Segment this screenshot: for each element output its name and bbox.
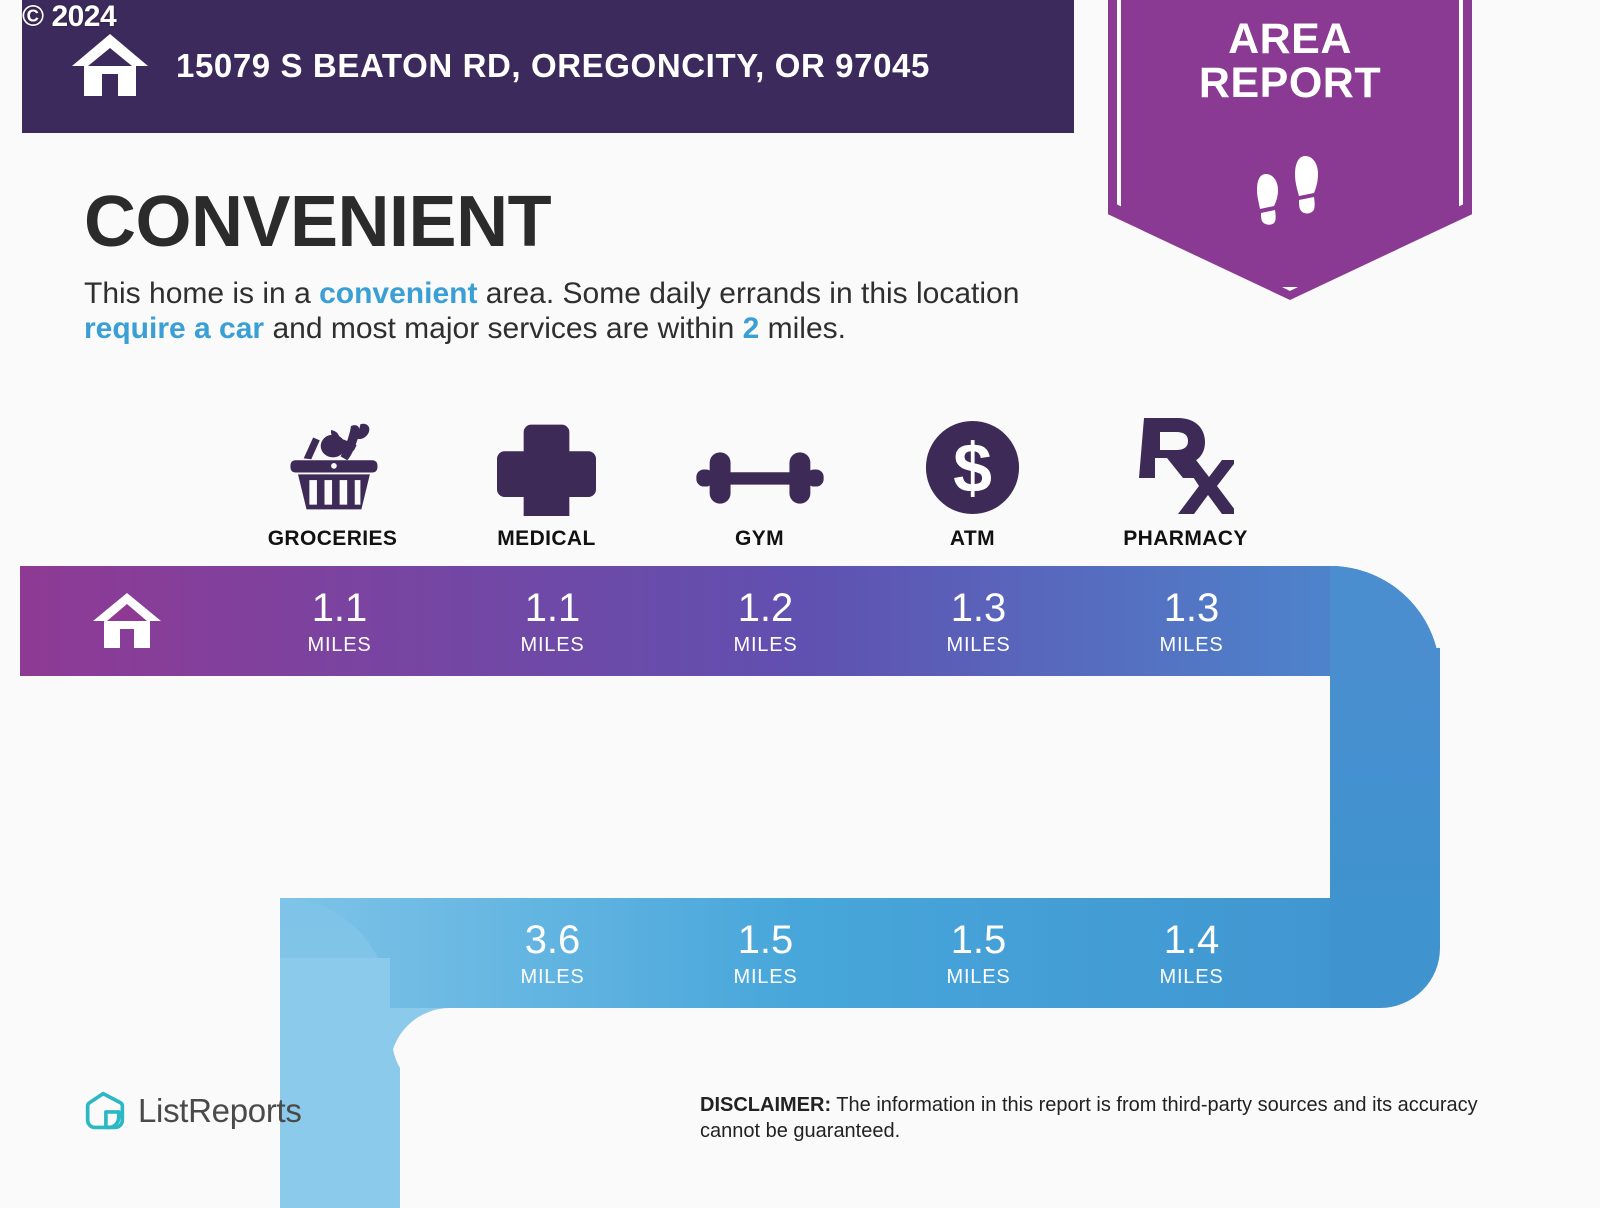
area-report-badge: AREA REPORT [1108, 0, 1472, 300]
home-icon [91, 591, 163, 651]
footprints-icon [1244, 138, 1336, 230]
summary-part-2: area. Some daily errands in this locatio… [477, 277, 1019, 310]
badge-line-2: REPORT [1108, 62, 1472, 106]
badge-line-1: AREA [1108, 18, 1472, 62]
amenity-groceries: GROCERIES [226, 412, 439, 551]
rx-icon [1079, 412, 1292, 516]
amenity-gym: GYM [653, 412, 866, 551]
amenity-atm: $ ATM [866, 412, 1079, 551]
home-icon [70, 32, 150, 98]
amenity-pharmacy: PHARMACY [1079, 412, 1292, 551]
summary-highlight-convenient: convenient [319, 277, 477, 310]
listreports-logo: ListReports [84, 1090, 302, 1132]
summary-part-1: This home is in a [84, 277, 319, 310]
dumbbell-icon [653, 412, 866, 516]
summary-highlight-require-a-car: require a car [84, 312, 264, 345]
listreports-wordmark: ListReports [138, 1092, 302, 1130]
property-address: 15079 S BEATON RD, OREGONCITY, OR 97045 [176, 47, 930, 85]
copyright-label: © 2024 [22, 2, 116, 32]
home-marker-cell [20, 566, 233, 676]
listreports-house-icon [84, 1090, 126, 1132]
disclaimer-label: DISCLAIMER: [700, 1094, 831, 1116]
area-report-infographic: © 2024 15079 S BEATON RD, OREGONCITY, OR… [0, 0, 1600, 1200]
summary-highlight-miles: 2 [743, 312, 760, 345]
summary-text: This home is in a convenient area. Some … [84, 276, 1094, 347]
medical-cross-icon [440, 412, 653, 516]
page-title: CONVENIENT [84, 186, 551, 258]
summary-part-3: and most major services are within [264, 312, 743, 345]
svg-text:$: $ [953, 429, 992, 507]
amenity-medical: MEDICAL [440, 412, 653, 551]
badge-text: AREA REPORT [1108, 18, 1472, 106]
grocery-basket-icon [226, 412, 439, 516]
summary-part-4: miles. [759, 312, 846, 345]
disclaimer: DISCLAIMER: The information in this repo… [700, 1092, 1500, 1145]
dollar-circle-icon: $ [866, 412, 1079, 516]
